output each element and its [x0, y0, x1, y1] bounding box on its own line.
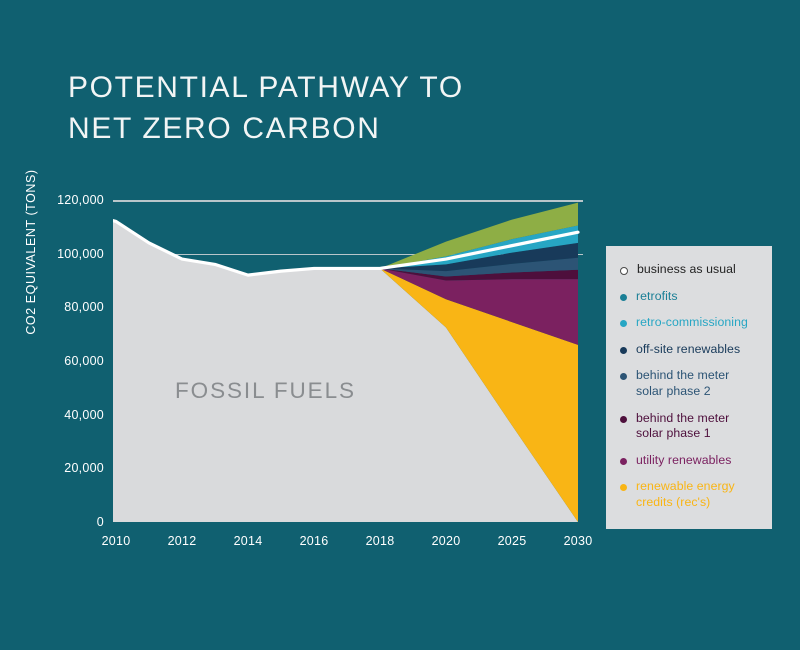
fossil-fuels-annotation: FOSSIL FUELS — [175, 378, 356, 404]
title-line-2: NET ZERO CARBON — [68, 109, 538, 150]
y-axis-tick-label: 80,000 — [12, 300, 104, 314]
x-axis-tick-label: 2016 — [300, 534, 329, 548]
dot-icon — [620, 484, 627, 491]
y-axis-tick-label: 40,000 — [12, 408, 104, 422]
x-axis-tick-label: 2030 — [564, 534, 593, 548]
y-axis-ticks: 020,00040,00060,00080,000100,000120,000 — [12, 0, 104, 650]
legend-item[interactable]: behind the meter solar phase 1 — [620, 411, 758, 442]
legend-item-label: off-site renewables — [636, 342, 740, 358]
legend-item[interactable]: retro-commissioning — [620, 315, 758, 331]
legend-item[interactable]: business as usual — [620, 262, 758, 278]
chart-slide: POTENTIAL PATHWAY TO NET ZERO CARBON CO2… — [0, 0, 800, 650]
x-axis-tick-label: 2025 — [498, 534, 527, 548]
legend-item[interactable]: off-site renewables — [620, 342, 758, 358]
dot-icon — [620, 458, 627, 465]
x-axis-ticks: 20102012201420162018202020252030 — [113, 534, 581, 556]
legend-item[interactable]: utility renewables — [620, 453, 758, 469]
y-axis-tick-label: 60,000 — [12, 354, 104, 368]
legend-item-label: utility renewables — [636, 453, 731, 469]
x-axis-tick-label: 2012 — [168, 534, 197, 548]
x-axis-tick-label: 2018 — [366, 534, 395, 548]
y-axis-tick-label: 100,000 — [12, 247, 104, 261]
page-title: POTENTIAL PATHWAY TO NET ZERO CARBON — [68, 68, 538, 149]
legend-item-label: behind the meter solar phase 2 — [636, 368, 758, 399]
dot-icon — [620, 294, 627, 301]
legend-item-label: retrofits — [636, 289, 678, 305]
dot-icon — [620, 416, 627, 423]
x-axis-tick-label: 2020 — [432, 534, 461, 548]
legend-item[interactable]: renewable energy credits (rec's) — [620, 479, 758, 510]
legend-item-label: business as usual — [637, 262, 736, 278]
legend-item-label: retro-commissioning — [636, 315, 748, 331]
hollow-circle-icon — [620, 267, 628, 275]
y-axis-tick-label: 120,000 — [12, 193, 104, 207]
legend-item[interactable]: behind the meter solar phase 2 — [620, 368, 758, 399]
dot-icon — [620, 347, 627, 354]
x-axis-tick-label: 2010 — [102, 534, 131, 548]
legend-item-label: renewable energy credits (rec's) — [636, 479, 758, 510]
dot-icon — [620, 373, 627, 380]
chart-legend: business as usualretrofitsretro-commissi… — [606, 246, 772, 529]
legend-item-label: behind the meter solar phase 1 — [636, 411, 758, 442]
dot-icon — [620, 320, 627, 327]
y-axis-tick-label: 20,000 — [12, 461, 104, 475]
stacked-area-chart — [113, 200, 581, 522]
title-line-1: POTENTIAL PATHWAY TO — [68, 68, 538, 109]
x-axis-tick-label: 2014 — [234, 534, 263, 548]
chart-plot-area — [113, 200, 581, 522]
legend-item[interactable]: retrofits — [620, 289, 758, 305]
y-axis-tick-label: 0 — [12, 515, 104, 529]
